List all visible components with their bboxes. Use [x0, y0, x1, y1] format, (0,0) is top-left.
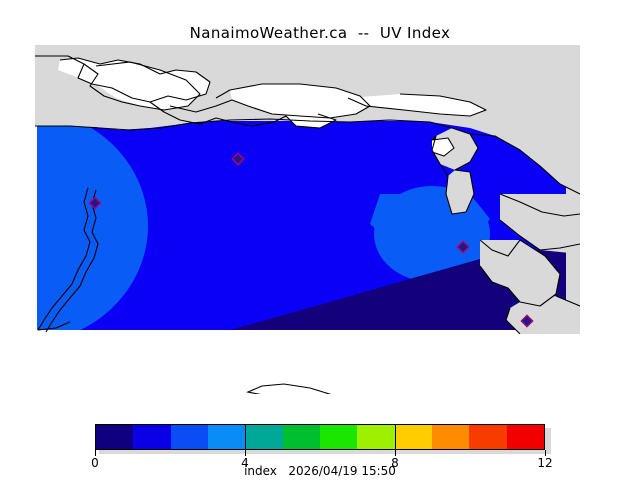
- uv-index-map-page: NanaimoWeather.ca -- UV Index: [0, 0, 640, 480]
- colorbar-major-tick-4: [245, 424, 246, 450]
- colorbar-cell-3[interactable]: [208, 425, 245, 449]
- colorbar-cell-6[interactable]: [320, 425, 357, 449]
- colorbar-caption: index 2026/04/19 15:50: [0, 464, 640, 478]
- colorbar[interactable]: [95, 424, 545, 450]
- colorbar-cell-5[interactable]: [283, 425, 320, 449]
- colorbar-cell-1[interactable]: [133, 425, 170, 449]
- colorbar-cell-9[interactable]: [432, 425, 469, 449]
- colorbar-cell-10[interactable]: [469, 425, 506, 449]
- uv-field-layer: [0, 108, 580, 344]
- page-title: NanaimoWeather.ca -- UV Index: [0, 24, 640, 42]
- colorbar-cell-11[interactable]: [507, 425, 544, 449]
- map-canvas[interactable]: [0, 44, 640, 394]
- colorbar-cell-0[interactable]: [96, 425, 133, 449]
- map-panel[interactable]: [0, 44, 640, 394]
- colorbar-panel[interactable]: 04812 index 2026/04/19 15:50: [0, 420, 640, 480]
- colorbar-cell-8[interactable]: [395, 425, 432, 449]
- land-east-edge-strip: [566, 45, 580, 334]
- colorbar-cell-7[interactable]: [357, 425, 394, 449]
- colorbar-cell-2[interactable]: [171, 425, 208, 449]
- colorbar-major-tick-8: [395, 424, 396, 450]
- colorbar-cell-4[interactable]: [245, 425, 282, 449]
